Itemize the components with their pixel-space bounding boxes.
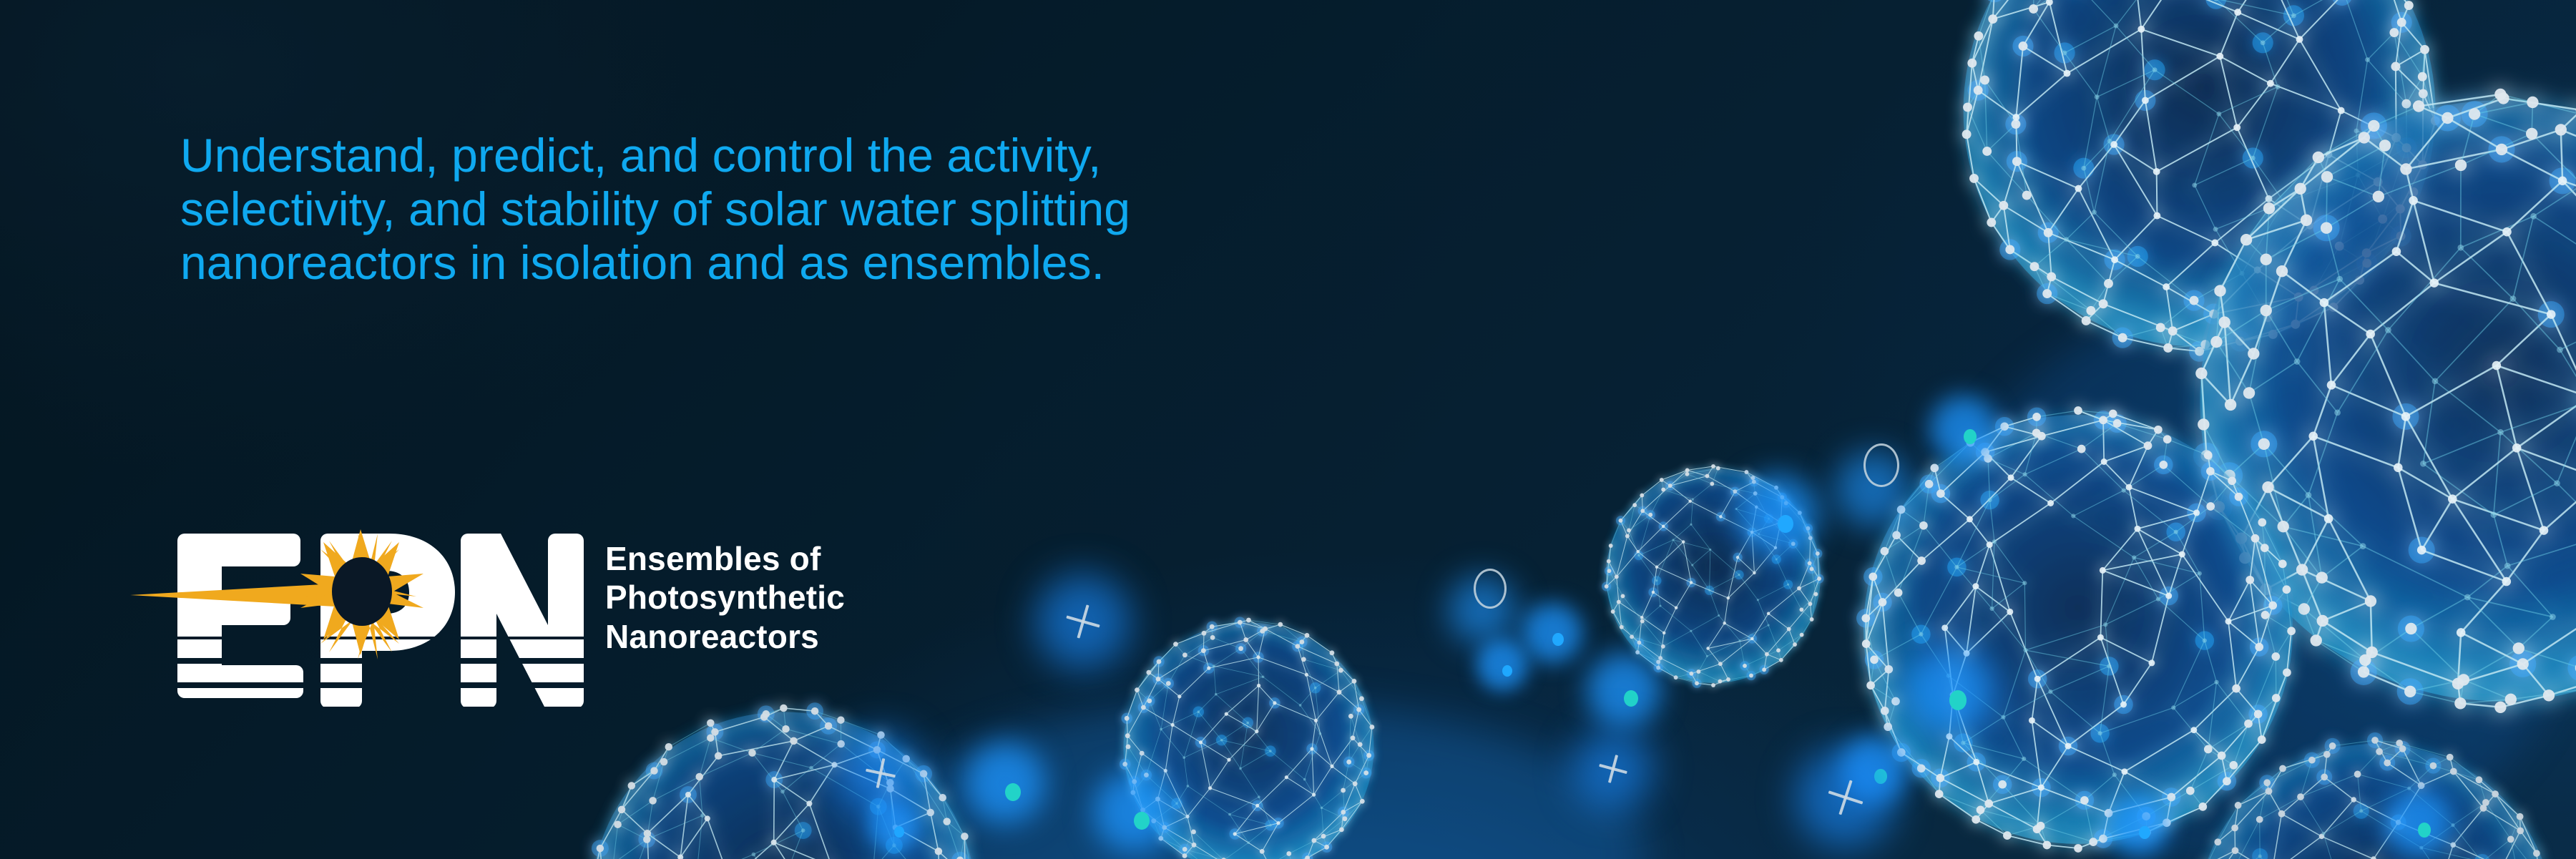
content-column: Understand, predict, and control the act… (180, 0, 1611, 859)
sphere-far-right (2134, 34, 2576, 767)
cross-glow (1796, 747, 1896, 848)
letter-N-glyph (461, 534, 584, 708)
page-title: Understand, predict, and control the act… (180, 129, 1554, 290)
epn-logo-mark (180, 529, 581, 708)
sphere-mid-right (1816, 368, 2340, 859)
particle-glow (1905, 646, 1994, 735)
glow-particle (1874, 769, 1887, 784)
epn-logo[interactable]: Ensembles of Photosynthetic Nanoreactors (180, 529, 845, 708)
particle-glow (2109, 796, 2168, 855)
sunburst-core (332, 557, 392, 626)
glow-particle (1624, 690, 1638, 707)
sphere-bottom-right (2157, 705, 2576, 859)
glow-particle (1964, 429, 1977, 444)
glow-particle (2139, 826, 2150, 839)
glow-particle (2418, 823, 2431, 838)
letter-E-glyph (177, 534, 303, 698)
particle-glow (1737, 474, 1818, 556)
sphere-small-upper (1582, 445, 1844, 707)
epn-banner: Understand, predict, and control the act… (0, 0, 2576, 859)
particle-glow (1930, 396, 1997, 463)
glow-right-mid (1931, 300, 2575, 859)
logo-wordmark: Ensembles of Photosynthetic Nanoreactors (605, 529, 845, 656)
sphere-top-right (1911, 0, 2487, 399)
circle-outline-icon (1864, 443, 1899, 487)
ring-glow (1835, 451, 1911, 527)
glow-particle (1778, 515, 1793, 533)
particle-glow (1841, 735, 1908, 802)
particle-glow (2384, 789, 2452, 856)
cross-sparkle-icon (1823, 775, 1868, 820)
glow-particle (1949, 690, 1967, 710)
